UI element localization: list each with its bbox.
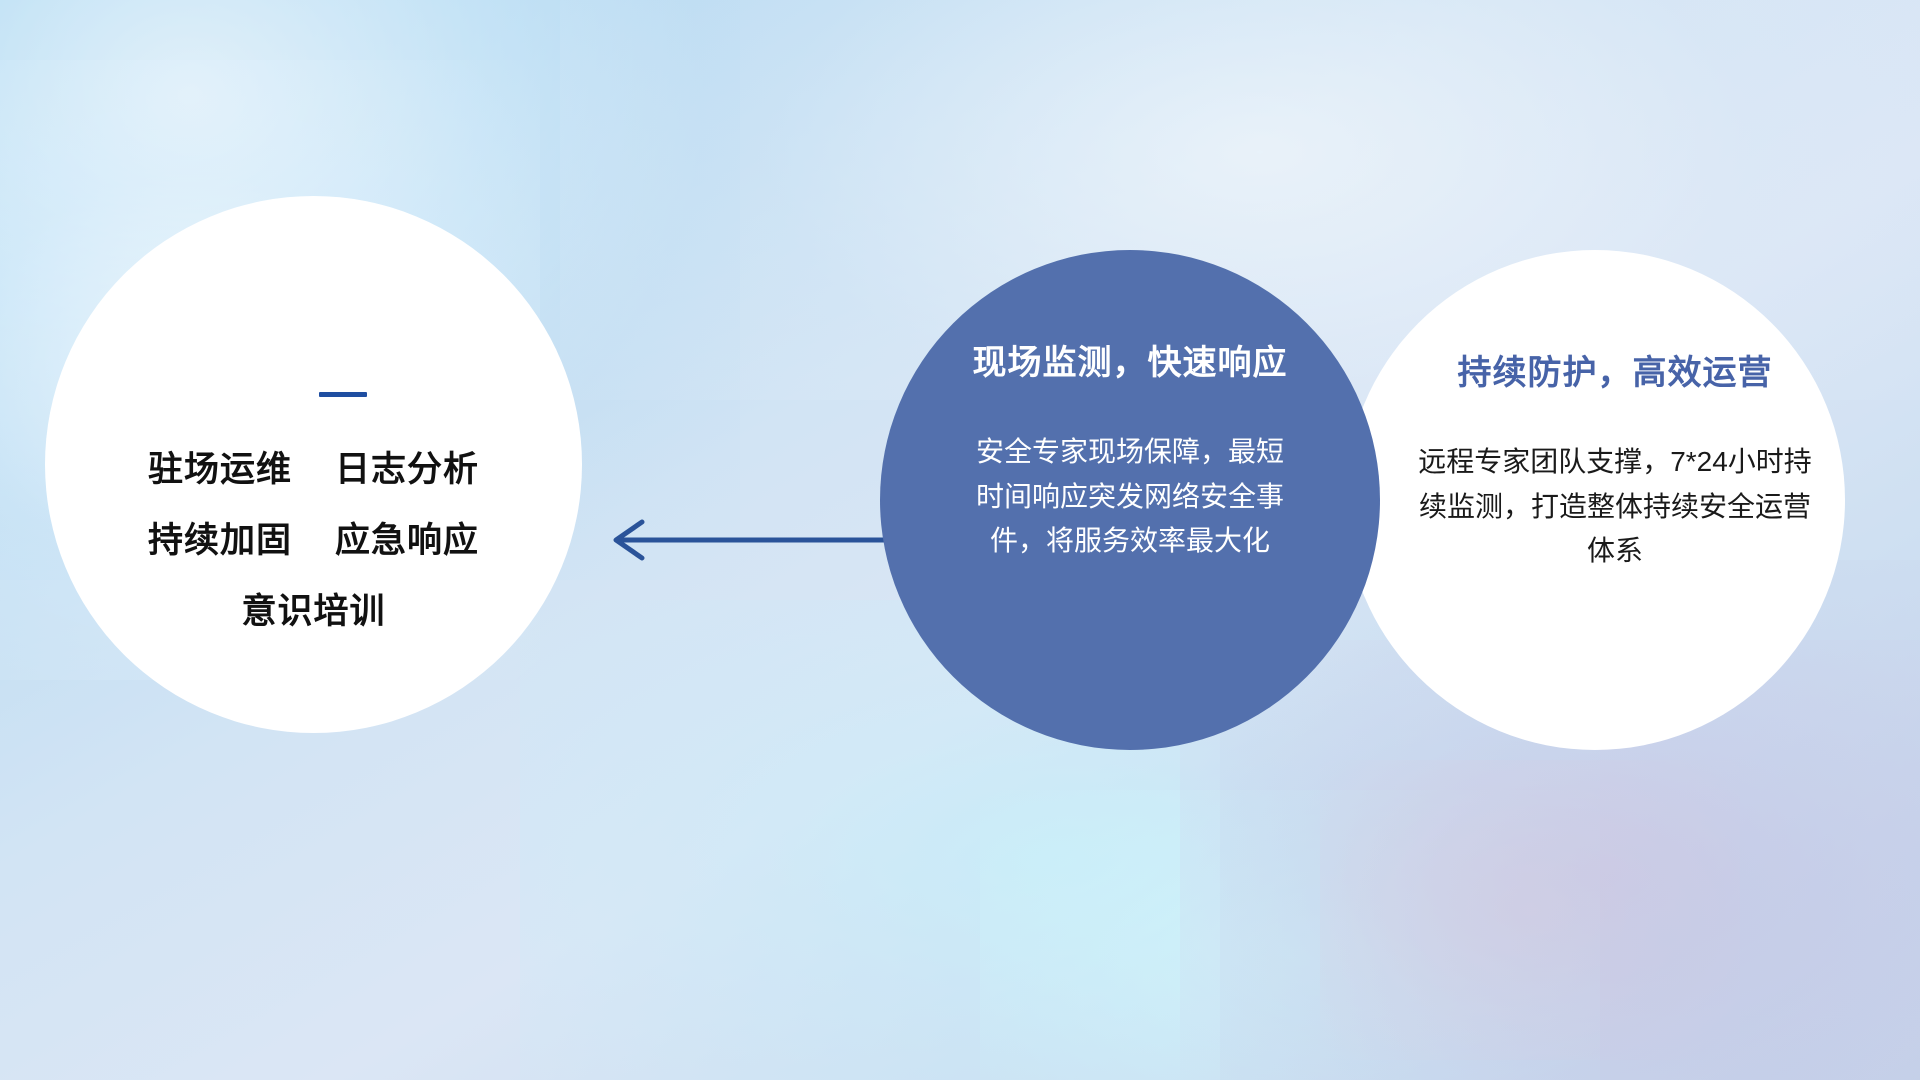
left-circle-card[interactable]: 驻场运维 日志分析 持续加固 应急响应 意识培训	[45, 196, 582, 733]
right-circle-body: 远程专家团队支撑，7*24小时持续监测，打造整体持续安全运营体系	[1410, 440, 1820, 573]
left-circle-line-1: 驻场运维 日志分析	[148, 452, 479, 487]
left-circle-line-3: 意识培训	[241, 594, 385, 629]
right-circle-title: 持续防护，高效运营	[1458, 355, 1773, 392]
right-circle-content: 持续防护，高效运营 远程专家团队支撑，7*24小时持续监测，打造整体持续安全运营…	[1345, 250, 1845, 750]
middle-circle-body: 安全专家现场保障，最短时间响应突发网络安全事件，将服务效率最大化	[965, 430, 1295, 563]
left-circle-content: 驻场运维 日志分析 持续加固 应急响应 意识培训	[45, 196, 582, 733]
flow-arrow	[600, 500, 900, 580]
middle-circle-title: 现场监测，快速响应	[973, 345, 1288, 382]
middle-circle-card[interactable]: 现场监测，快速响应 安全专家现场保障，最短时间响应突发网络安全事件，将服务效率最…	[880, 250, 1380, 750]
arrow-left-icon	[600, 500, 900, 580]
left-circle-line-2: 持续加固 应急响应	[148, 523, 479, 558]
divider-dash-icon	[319, 392, 367, 397]
slide-canvas: 驻场运维 日志分析 持续加固 应急响应 意识培训 持续防护，高效运营 远程专家团…	[0, 0, 1920, 1080]
right-circle-card[interactable]: 持续防护，高效运营 远程专家团队支撑，7*24小时持续监测，打造整体持续安全运营…	[1345, 250, 1845, 750]
middle-circle-content: 现场监测，快速响应 安全专家现场保障，最短时间响应突发网络安全事件，将服务效率最…	[880, 250, 1380, 750]
